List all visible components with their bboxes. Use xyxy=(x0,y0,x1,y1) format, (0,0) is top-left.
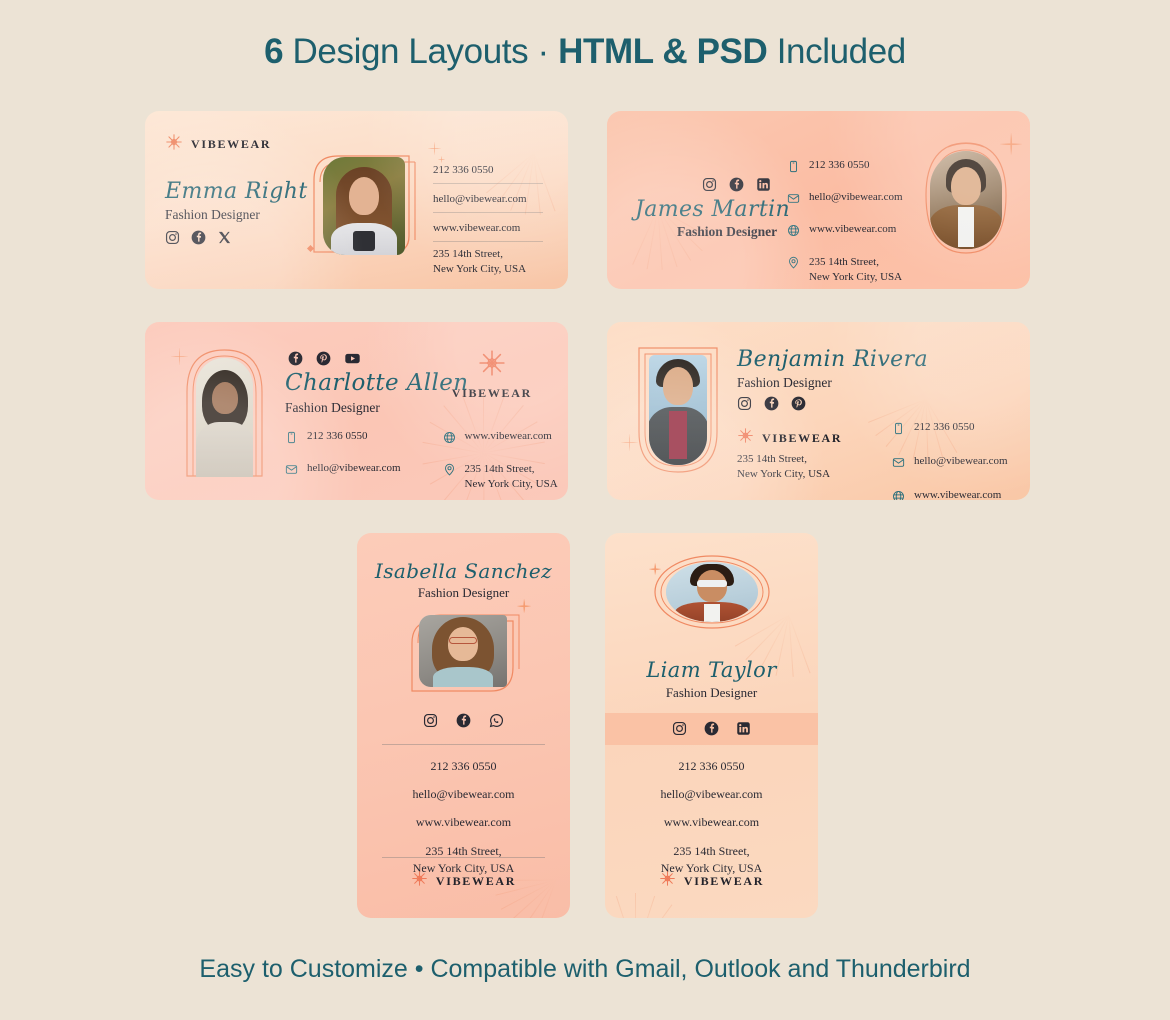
portrait-benjamin-rivera xyxy=(649,355,707,465)
social-links[interactable] xyxy=(288,351,361,366)
whatsapp-icon[interactable] xyxy=(489,713,504,728)
brand-name: VIBEWEAR xyxy=(684,874,764,889)
phone-icon xyxy=(787,160,800,178)
portrait-charlotte-allen xyxy=(196,358,253,477)
contact-role: Fashion Designer xyxy=(285,400,380,416)
flower-mandala-icon xyxy=(165,133,183,156)
contact-phone[interactable]: 212 336 0550 xyxy=(605,759,818,774)
envelope-icon xyxy=(285,463,298,481)
contact-name: James Martin xyxy=(635,197,790,222)
card-row-3: Isabella Sanchez Fashion Designer xyxy=(145,533,1030,918)
brand-logo: VIBEWEAR xyxy=(605,870,818,892)
brand-name: VIBEWEAR xyxy=(436,874,516,889)
flower-mandala-icon xyxy=(478,364,506,381)
contact-name: Liam Taylor xyxy=(605,658,818,682)
contact-list: 212 336 0550 hello@vibewear.com xyxy=(285,430,558,492)
portrait-isabella-sanchez xyxy=(419,615,507,687)
contact-address: 235 14th Street, New York City, USA xyxy=(787,255,903,285)
contact-website[interactable]: www.vibewear.com xyxy=(443,430,558,449)
facebook-icon[interactable] xyxy=(729,177,744,192)
flower-mandala-icon xyxy=(411,870,428,892)
phone-icon xyxy=(892,422,905,440)
globe-icon xyxy=(892,490,905,500)
contact-name: Emma Right xyxy=(165,179,308,204)
brand-name: VIBEWEAR xyxy=(191,137,271,152)
facebook-icon[interactable] xyxy=(288,351,303,366)
brand-name: VIBEWEAR xyxy=(452,386,532,401)
page-title-count: 6 xyxy=(264,32,283,71)
contact-list: 212 336 0550 hello@vibewear.com www.vibe… xyxy=(605,759,818,877)
contact-list: 212 336 0550 hello@vibewear.com www.vibe… xyxy=(787,159,903,285)
pinterest-icon[interactable] xyxy=(791,396,806,411)
portrait-emma-right xyxy=(323,157,405,255)
card-benjamin-rivera[interactable]: Benjamin Rivera Fashion Designer xyxy=(607,322,1030,500)
page-title-formats: HTML & PSD xyxy=(558,32,767,71)
pinterest-icon[interactable] xyxy=(316,351,331,366)
instagram-icon[interactable] xyxy=(737,396,752,411)
contact-phone[interactable]: 212 336 0550 xyxy=(357,759,570,774)
social-links[interactable] xyxy=(605,721,818,736)
location-pin-icon xyxy=(443,463,456,481)
page-footer: Easy to Customize • Compatible with Gmai… xyxy=(0,955,1170,984)
sparkle-icon xyxy=(428,142,441,155)
linkedin-icon[interactable] xyxy=(756,177,771,192)
contact-address: 235 14th Street, New York City, USA xyxy=(433,242,543,282)
youtube-icon[interactable] xyxy=(344,351,361,366)
contact-name: Charlotte Allen xyxy=(285,370,468,396)
flower-mandala-icon xyxy=(737,427,754,449)
card-row-1: VIBEWEAR Emma Right Fashion Designer xyxy=(145,111,1030,289)
contact-phone[interactable]: 212 336 0550 xyxy=(892,421,1008,440)
globe-icon xyxy=(443,431,456,449)
contact-list: 212 336 0550 hello@vibewear.com www.vibe… xyxy=(357,759,570,877)
envelope-icon xyxy=(787,192,800,210)
contact-phone[interactable]: 212 336 0550 xyxy=(787,159,903,178)
instagram-icon[interactable] xyxy=(702,177,717,192)
contact-address: 235 14th Street, New York City, USA xyxy=(443,462,558,492)
contact-website[interactable]: www.vibewear.com xyxy=(605,815,818,830)
social-links[interactable] xyxy=(737,396,806,411)
instagram-icon[interactable] xyxy=(165,230,180,245)
contact-role: Fashion Designer xyxy=(165,207,260,223)
contact-role: Fashion Designer xyxy=(605,685,818,701)
card-liam-taylor[interactable]: Liam Taylor Fashion Designer 212 336 055… xyxy=(605,533,818,918)
contact-phone[interactable]: 212 336 0550 xyxy=(285,430,401,449)
card-james-martin[interactable]: James Martin Fashion Designer 212 336 05… xyxy=(607,111,1030,289)
portrait-liam-taylor xyxy=(666,562,758,622)
card-charlotte-allen[interactable]: Charlotte Allen Fashion Designer xyxy=(145,322,568,500)
instagram-icon[interactable] xyxy=(423,713,438,728)
social-links[interactable] xyxy=(702,177,771,192)
facebook-icon[interactable] xyxy=(704,721,719,736)
contact-website[interactable]: www.vibewear.com xyxy=(433,213,543,242)
brand-logo: VIBEWEAR xyxy=(165,133,271,156)
contact-website[interactable]: www.vibewear.com xyxy=(787,223,903,242)
contact-email[interactable]: hello@vibewear.com xyxy=(357,787,570,802)
contact-name: Benjamin Rivera xyxy=(737,347,928,372)
facebook-icon[interactable] xyxy=(191,230,206,245)
contact-website[interactable]: www.vibewear.com xyxy=(892,489,1008,500)
x-twitter-icon[interactable] xyxy=(217,230,232,245)
divider xyxy=(382,744,545,745)
contact-email[interactable]: hello@vibewear.com xyxy=(892,455,1008,474)
page-title-part2: Included xyxy=(767,32,905,71)
page-title-part1: Design Layouts · xyxy=(283,32,558,71)
contact-role: Fashion Designer xyxy=(357,585,570,601)
contact-email[interactable]: hello@vibewear.com xyxy=(433,184,543,213)
contact-phone[interactable]: 212 336 0550 xyxy=(433,155,543,184)
linkedin-icon[interactable] xyxy=(736,721,751,736)
contact-list: 212 336 0550 hello@vibewear.com www.vibe… xyxy=(433,155,543,282)
contact-list: 212 336 0550 hello@vibewear.com www.vibe… xyxy=(892,421,1008,500)
card-emma-right[interactable]: VIBEWEAR Emma Right Fashion Designer xyxy=(145,111,568,289)
location-pin-icon xyxy=(787,256,800,274)
portrait-james-martin xyxy=(930,151,1002,249)
page-title: 6 Design Layouts · HTML & PSD Included xyxy=(0,0,1170,72)
divider xyxy=(382,857,545,858)
globe-icon xyxy=(787,224,800,242)
card-grid: VIBEWEAR Emma Right Fashion Designer xyxy=(145,111,1030,918)
social-links[interactable] xyxy=(357,713,570,728)
card-isabella-sanchez[interactable]: Isabella Sanchez Fashion Designer xyxy=(357,533,570,918)
contact-email[interactable]: hello@vibewear.com xyxy=(605,787,818,802)
brand-logo: VIBEWEAR xyxy=(357,870,570,892)
brand-name: VIBEWEAR xyxy=(762,431,842,446)
contact-address: 235 14th Street, New York City, USA xyxy=(737,452,830,482)
contact-role: Fashion Designer xyxy=(677,224,777,240)
facebook-icon[interactable] xyxy=(764,396,779,411)
brand-logo: VIBEWEAR xyxy=(452,349,532,401)
contact-name: Isabella Sanchez xyxy=(357,559,570,583)
card-row-2: Charlotte Allen Fashion Designer xyxy=(145,322,1030,500)
social-links[interactable] xyxy=(165,230,232,245)
facebook-icon[interactable] xyxy=(456,713,471,728)
contact-email[interactable]: hello@vibewear.com xyxy=(787,191,903,210)
phone-icon xyxy=(285,431,298,449)
brand-logo: VIBEWEAR xyxy=(737,427,842,449)
envelope-icon xyxy=(892,456,905,474)
contact-email[interactable]: hello@vibewear.com xyxy=(285,462,401,481)
contact-role: Fashion Designer xyxy=(737,375,832,391)
sunburst-decoration xyxy=(468,111,568,156)
contact-website[interactable]: www.vibewear.com xyxy=(357,815,570,830)
flower-mandala-icon xyxy=(659,870,676,892)
instagram-icon[interactable] xyxy=(672,721,687,736)
